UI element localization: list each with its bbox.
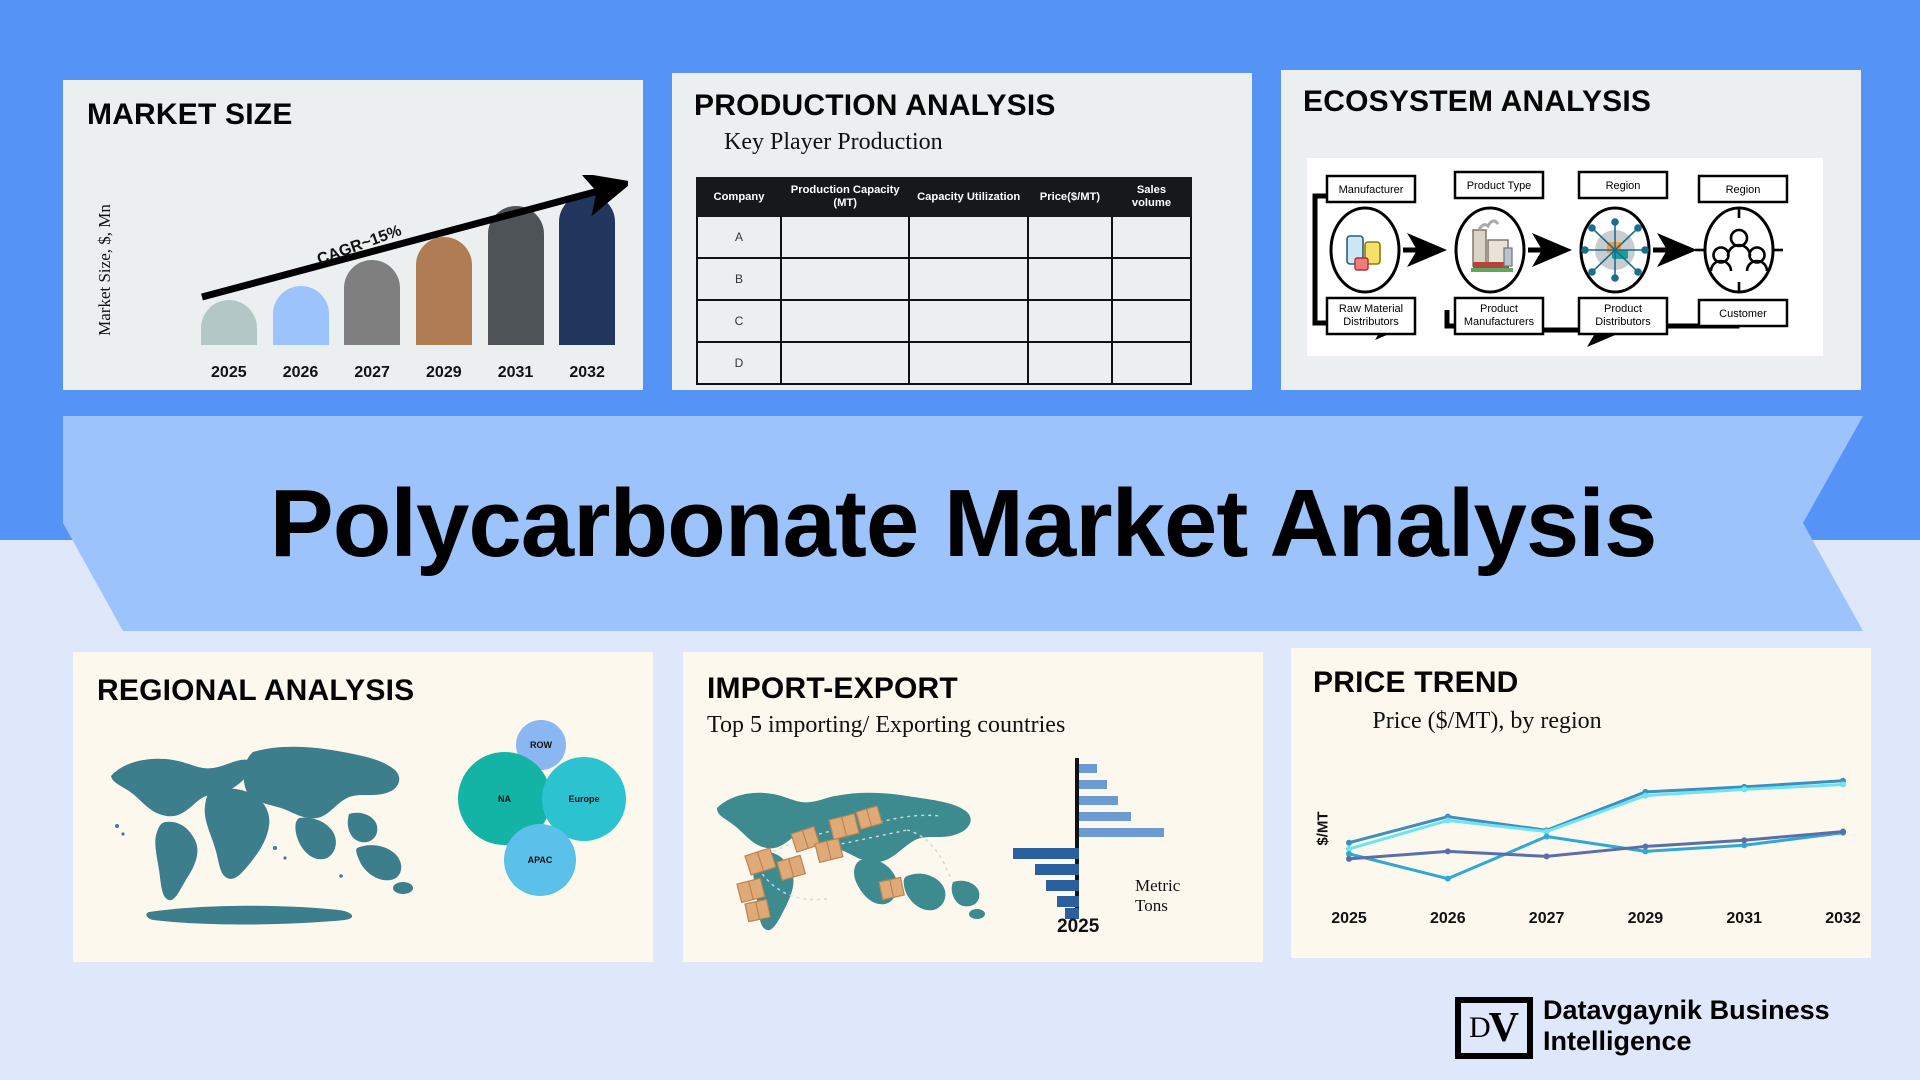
ecosystem-diagram: Manufacturer Product Type Region Region … [1307,158,1823,356]
market-size-plot: 202520262027202920312032 [193,180,623,390]
cell-sales [1112,342,1191,384]
price-trend-x-axis: 202520262027202920312032 [1341,910,1851,934]
price-trend-point [1544,834,1550,840]
svg-text:Distributors: Distributors [1595,316,1651,328]
svg-text:Product: Product [1480,303,1518,315]
market-size-y-axis-label: Market Size, $, Mn [95,190,115,350]
price-trend-point [1642,843,1648,849]
market-size-bar [273,286,329,345]
eco-bottom-label-3: Customer [1719,308,1767,320]
cell-company: A [697,216,781,258]
ecosystem-analysis-card: ECOSYSTEM ANALYSIS [1281,70,1861,390]
bar-export [1035,864,1079,875]
regional-analysis-card: REGIONAL ANALYSIS ROW NA Europe APAC [73,652,653,962]
logo-mark: D V [1455,997,1533,1059]
region-bubbles: ROW NA Europe APAC [458,720,633,930]
logo-letter-v: V [1489,1007,1519,1049]
page-title: Polycarbonate Market Analysis [63,416,1863,631]
logo-wordmark: Datavgaynik Business Intelligence [1543,995,1873,1058]
table-header-row: Company Production Capacity (MT) Capacit… [697,178,1191,216]
price-trend-point [1642,793,1648,799]
market-size-x-label: 2026 [273,364,329,382]
market-size-bar [488,206,544,345]
import-export-subtitle: Top 5 importing/ Exporting countries [707,712,1065,739]
eco-top-label-1: Product Type [1467,180,1532,192]
bar-import [1079,780,1107,789]
price-trend-line [1349,833,1843,879]
svg-text:Manufacturers: Manufacturers [1464,316,1535,328]
distribution-network-icon [1582,219,1648,281]
cell-sales [1112,216,1191,258]
cell-utilization [909,300,1028,342]
market-size-card: MARKET SIZE Market Size, $, Mn 202520262… [63,80,643,390]
price-trend-point [1544,853,1550,859]
svg-text:Distributors: Distributors [1343,316,1399,328]
cell-sales [1112,300,1191,342]
bar-import [1079,812,1131,821]
price-trend-card: PRICE TREND Price ($/MT), by region $/MT… [1291,648,1871,958]
cell-capacity [781,300,909,342]
cell-price [1028,216,1112,258]
price-trend-x-label: 2025 [1314,910,1384,928]
cell-capacity [781,258,909,300]
production-analysis-card: PRODUCTION ANALYSIS Key Player Productio… [672,73,1252,390]
price-trend-point [1741,786,1747,792]
svg-text:Product: Product [1604,303,1642,315]
market-size-x-label: 2027 [344,364,400,382]
bubble-apac: APAC [504,824,576,896]
price-trend-x-label: 2031 [1709,910,1779,928]
price-trend-subtitle: Price ($/MT), by region [1357,706,1617,736]
cell-company: D [697,342,781,384]
ecosystem-flow-svg: Manufacturer Product Type Region Region … [1307,158,1823,356]
price-trend-point [1346,840,1352,846]
table-row: B [697,258,1191,300]
price-trend-x-label: 2029 [1610,910,1680,928]
market-size-title: MARKET SIZE [87,98,293,132]
market-size-x-label: 2025 [201,364,257,382]
cell-utilization [909,216,1028,258]
table-row: D [697,342,1191,384]
metric-tons-label: Metric Tons [1135,876,1198,916]
market-size-x-label: 2029 [416,364,472,382]
market-size-x-label: 2032 [559,364,615,382]
price-trend-y-axis-label: $/MT [1315,789,1332,869]
import-export-title: IMPORT-EXPORT [707,672,958,706]
price-trend-point [1840,781,1846,787]
col-price: Price($/MT) [1028,178,1112,216]
market-size-bar [416,237,472,345]
price-trend-title: PRICE TREND [1313,666,1519,700]
price-trend-point [1346,856,1352,862]
banner-wrapper: Polycarbonate Market Analysis [0,416,1920,631]
table-row: C [697,300,1191,342]
key-player-production-table: Company Production Capacity (MT) Capacit… [696,177,1192,385]
price-trend-point [1741,837,1747,843]
price-trend-point [1445,848,1451,854]
production-analysis-subtitle: Key Player Production [724,129,943,156]
cell-price [1028,300,1112,342]
cell-price [1028,342,1112,384]
bar-import [1079,796,1118,805]
company-logo: D V Datavgaynik Business Intelligence [1455,995,1875,1067]
market-size-x-label: 2031 [488,364,544,382]
col-production-capacity: Production Capacity (MT) [781,178,909,216]
market-size-bar [344,260,400,345]
bar-import [1079,828,1164,837]
cell-utilization [909,258,1028,300]
cell-capacity [781,342,909,384]
import-export-card: IMPORT-EXPORT Top 5 importing/ Exporting… [683,652,1263,962]
cell-sales [1112,258,1191,300]
import-export-diverging-bar-chart: Metric Tons 2025 [1013,758,1198,918]
cell-utilization [909,342,1028,384]
title-banner: Polycarbonate Market Analysis [63,416,1863,631]
price-trend-x-label: 2032 [1808,910,1878,928]
price-trend-line-chart [1341,774,1851,904]
col-sales-volume: Sales volume [1112,178,1191,216]
bar-import [1079,764,1097,773]
regional-analysis-title: REGIONAL ANALYSIS [97,674,414,708]
price-trend-point [1840,829,1846,835]
col-company: Company [697,178,781,216]
market-size-bar [201,300,257,345]
market-size-bar [559,194,615,345]
world-map-icon [103,730,448,930]
ecosystem-analysis-title: ECOSYSTEM ANALYSIS [1303,85,1651,119]
price-trend-line [1349,781,1843,843]
bar-export [1046,880,1079,891]
price-trend-point [1445,817,1451,823]
table-row: A [697,216,1191,258]
cell-capacity [781,216,909,258]
cell-price [1028,258,1112,300]
cell-company: B [697,258,781,300]
price-trend-point [1445,876,1451,882]
logo-line-1: Datavgaynik Business [1543,995,1873,1026]
import-export-year-label: 2025 [1057,916,1099,938]
price-trend-x-label: 2027 [1512,910,1582,928]
production-analysis-title: PRODUCTION ANALYSIS [694,89,1056,123]
svg-text:Raw Material: Raw Material [1339,303,1403,315]
trade-routes-map-icon [711,764,1001,934]
bar-export [1013,848,1079,859]
eco-top-label-3: Region [1726,184,1761,196]
cell-company: C [697,300,781,342]
logo-line-2: Intelligence [1543,1026,1873,1057]
eco-top-label-2: Region [1606,180,1641,192]
bar-export [1057,896,1079,907]
price-trend-x-label: 2026 [1413,910,1483,928]
logo-letter-d: D [1469,1013,1491,1043]
eco-top-label-0: Manufacturer [1339,184,1404,196]
col-capacity-utilization: Capacity Utilization [909,178,1028,216]
